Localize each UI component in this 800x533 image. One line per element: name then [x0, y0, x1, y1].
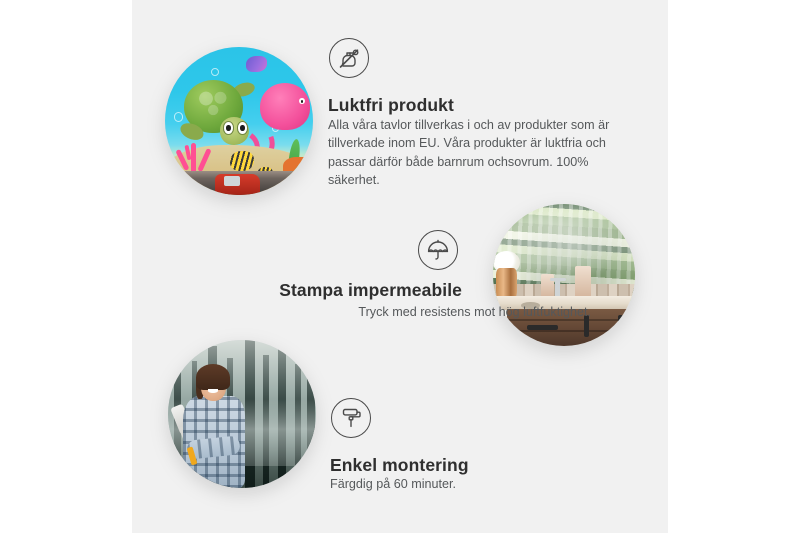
feature-title: Luktfri produkt: [328, 95, 454, 116]
bathroom-artwork: [493, 204, 635, 346]
woman-hair: [196, 364, 230, 391]
content-panel: Luktfri produkt Alla våra tavlor tillver…: [132, 0, 668, 533]
feature-body: Alla våra tavlor tillverkas i och av pro…: [328, 116, 623, 190]
feature-image-installer: [168, 340, 316, 488]
turtle-eye: [223, 121, 235, 135]
bubble-icon: [211, 68, 219, 76]
car-window-detail: [224, 176, 240, 186]
octopus-eye: [299, 98, 305, 104]
underwater-artwork: [165, 47, 313, 195]
paint-roller-icon: [331, 398, 371, 438]
umbrella-icon: [418, 230, 458, 270]
feature-image-underwater: [165, 47, 313, 195]
purple-fish-icon: [246, 56, 267, 72]
feature-block-luktfri-produkt: Luktfri produkt Alla våra tavlor tillver…: [132, 0, 668, 210]
no-fragrance-icon: [329, 38, 369, 78]
feature-block-enkel-montering: Enkel montering Färgdig på 60 minuter.: [132, 330, 668, 520]
turtle-eye: [237, 121, 249, 135]
coral-icon: [177, 136, 215, 174]
feature-body: Tryck med resistens mot hög luftfuktighe…: [358, 305, 591, 319]
forest-artwork: [168, 340, 316, 488]
bubble-icon: [174, 112, 183, 121]
feature-body: Färgdig på 60 minuter.: [330, 477, 456, 491]
page-root: Luktfri produkt Alla våra tavlor tillver…: [0, 0, 800, 533]
feature-image-bathroom: [493, 204, 635, 346]
drawer-handle: [527, 325, 558, 330]
feature-title: Stampa impermeabile: [279, 280, 462, 301]
feature-title: Enkel montering: [330, 455, 469, 476]
octopus-head: [260, 83, 310, 130]
striped-fish-icon: [230, 151, 254, 172]
